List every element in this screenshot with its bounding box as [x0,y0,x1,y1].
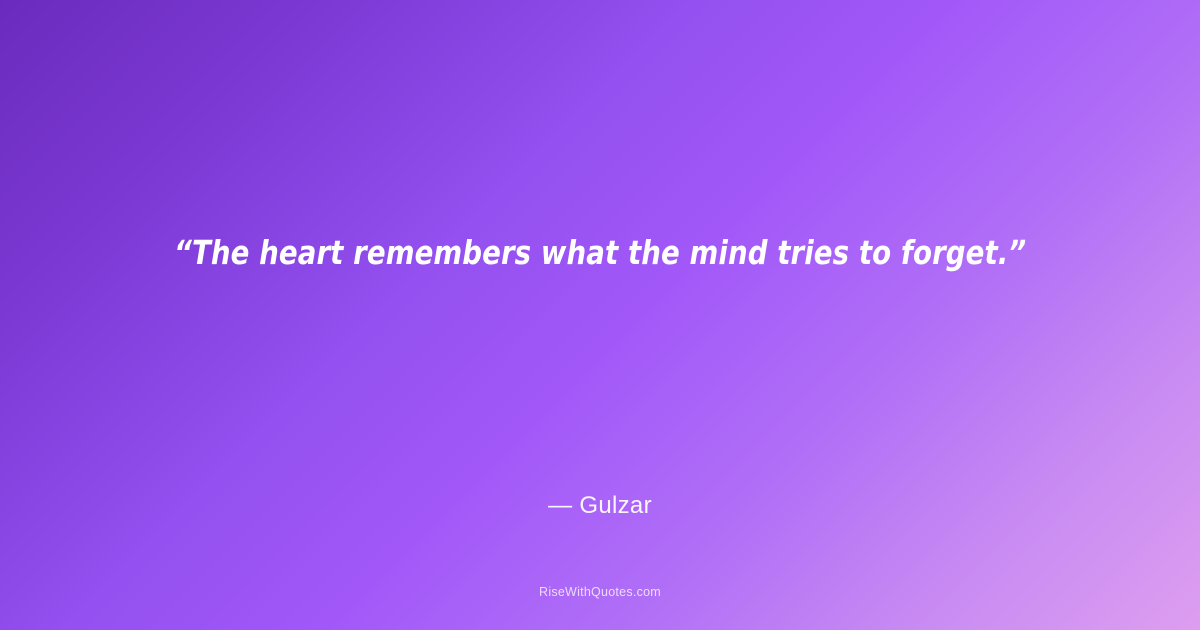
quote-attribution: — Gulzar [548,492,652,520]
quote-card: “The heart remembers what the mind tries… [0,0,1200,630]
quote-region: “The heart remembers what the mind tries… [0,232,1200,274]
quote-text: “The heart remembers what the mind tries… [174,232,1026,274]
footer-region: RiseWithQuotes.com [0,585,1200,599]
site-watermark: RiseWithQuotes.com [539,585,661,599]
attribution-region: — Gulzar [0,492,1200,520]
